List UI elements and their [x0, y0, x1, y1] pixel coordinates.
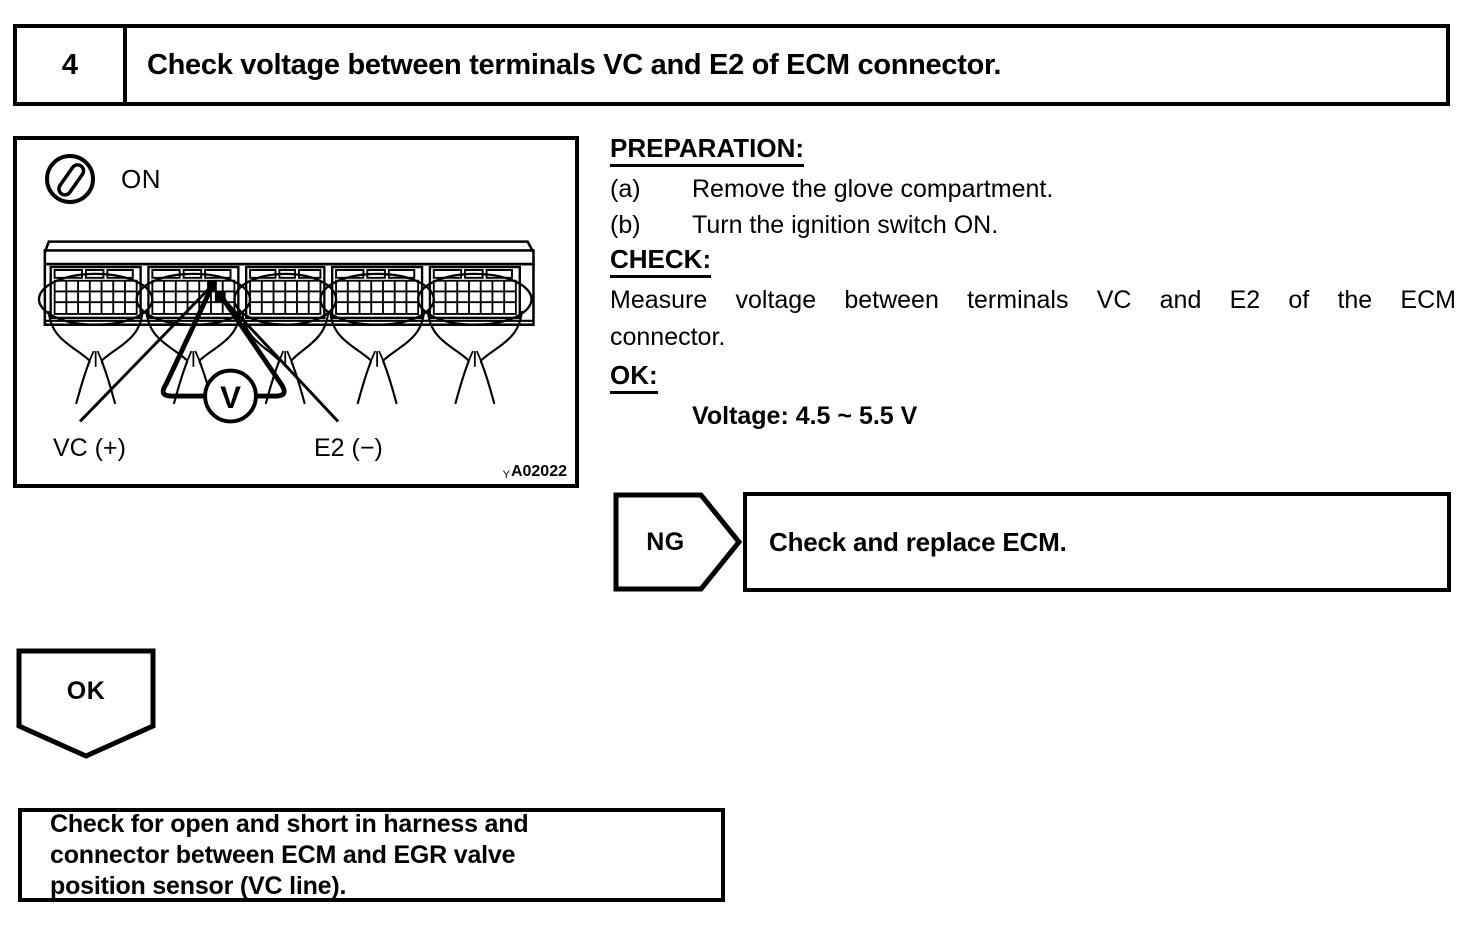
ecm-connector-diagram: V — [17, 140, 575, 484]
preparation-item-a-tag: (a) — [610, 171, 692, 207]
illustration-content: ON — [17, 140, 575, 484]
step-header-table: 4 Check voltage between terminals VC and… — [13, 24, 1450, 106]
ng-action-box: Check and replace ECM. — [743, 492, 1451, 592]
illustration-panel: ON — [13, 136, 579, 488]
check-body-line-1: Measure voltage between terminals VC and… — [610, 282, 1456, 319]
instructions-block: PREPARATION: (a) Remove the glove compar… — [610, 134, 1456, 431]
figure-code: A02022 — [511, 463, 567, 480]
figure-prefix: Y — [503, 469, 510, 481]
probe-label-vc: VC (+) — [53, 434, 126, 463]
step-number-cell: 4 — [17, 28, 127, 102]
check-heading: CHECK: — [610, 245, 711, 278]
check-heading-wrap: CHECK: — [610, 245, 1456, 278]
preparation-item-a-text: Remove the glove compartment. — [692, 171, 1456, 207]
figure-reference: YA02022 — [503, 463, 567, 481]
preparation-heading-wrap: PREPARATION: — [610, 134, 1456, 167]
probe-label-e2: E2 (−) — [314, 434, 383, 463]
ng-branch: NG Check and replace ECM. — [613, 492, 1451, 592]
preparation-heading: PREPARATION: — [610, 134, 804, 167]
preparation-item-a: (a) Remove the glove compartment. — [610, 171, 1456, 207]
ok-voltage-value: Voltage: 4.5 ~ 5.5 V — [610, 402, 1456, 431]
step-title-cell: Check voltage between terminals VC and E… — [127, 28, 1446, 102]
ok-action-box: Check for open and short in harness and … — [18, 808, 725, 902]
ng-action-text: Check and replace ECM. — [769, 527, 1067, 558]
voltmeter-symbol: V — [220, 380, 241, 415]
preparation-item-b: (b) Turn the ignition switch ON. — [610, 207, 1456, 243]
ok-heading: OK: — [610, 361, 658, 394]
step-title: Check voltage between terminals VC and E… — [147, 49, 1001, 82]
ng-label: NG — [613, 492, 718, 592]
preparation-item-b-text: Turn the ignition switch ON. — [692, 207, 1456, 243]
step-number: 4 — [62, 49, 78, 82]
ok-branch: OK — [16, 648, 156, 760]
preparation-list: (a) Remove the glove compartment. (b) Tu… — [610, 171, 1456, 243]
check-body: Measure voltage between terminals VC and… — [610, 282, 1456, 355]
preparation-item-b-tag: (b) — [610, 207, 692, 243]
ok-action-text: Check for open and short in harness and … — [50, 809, 528, 902]
ok-label: OK — [16, 648, 156, 734]
check-body-line-2: connector. — [610, 319, 1456, 356]
ok-heading-wrap: OK: — [610, 361, 1456, 394]
